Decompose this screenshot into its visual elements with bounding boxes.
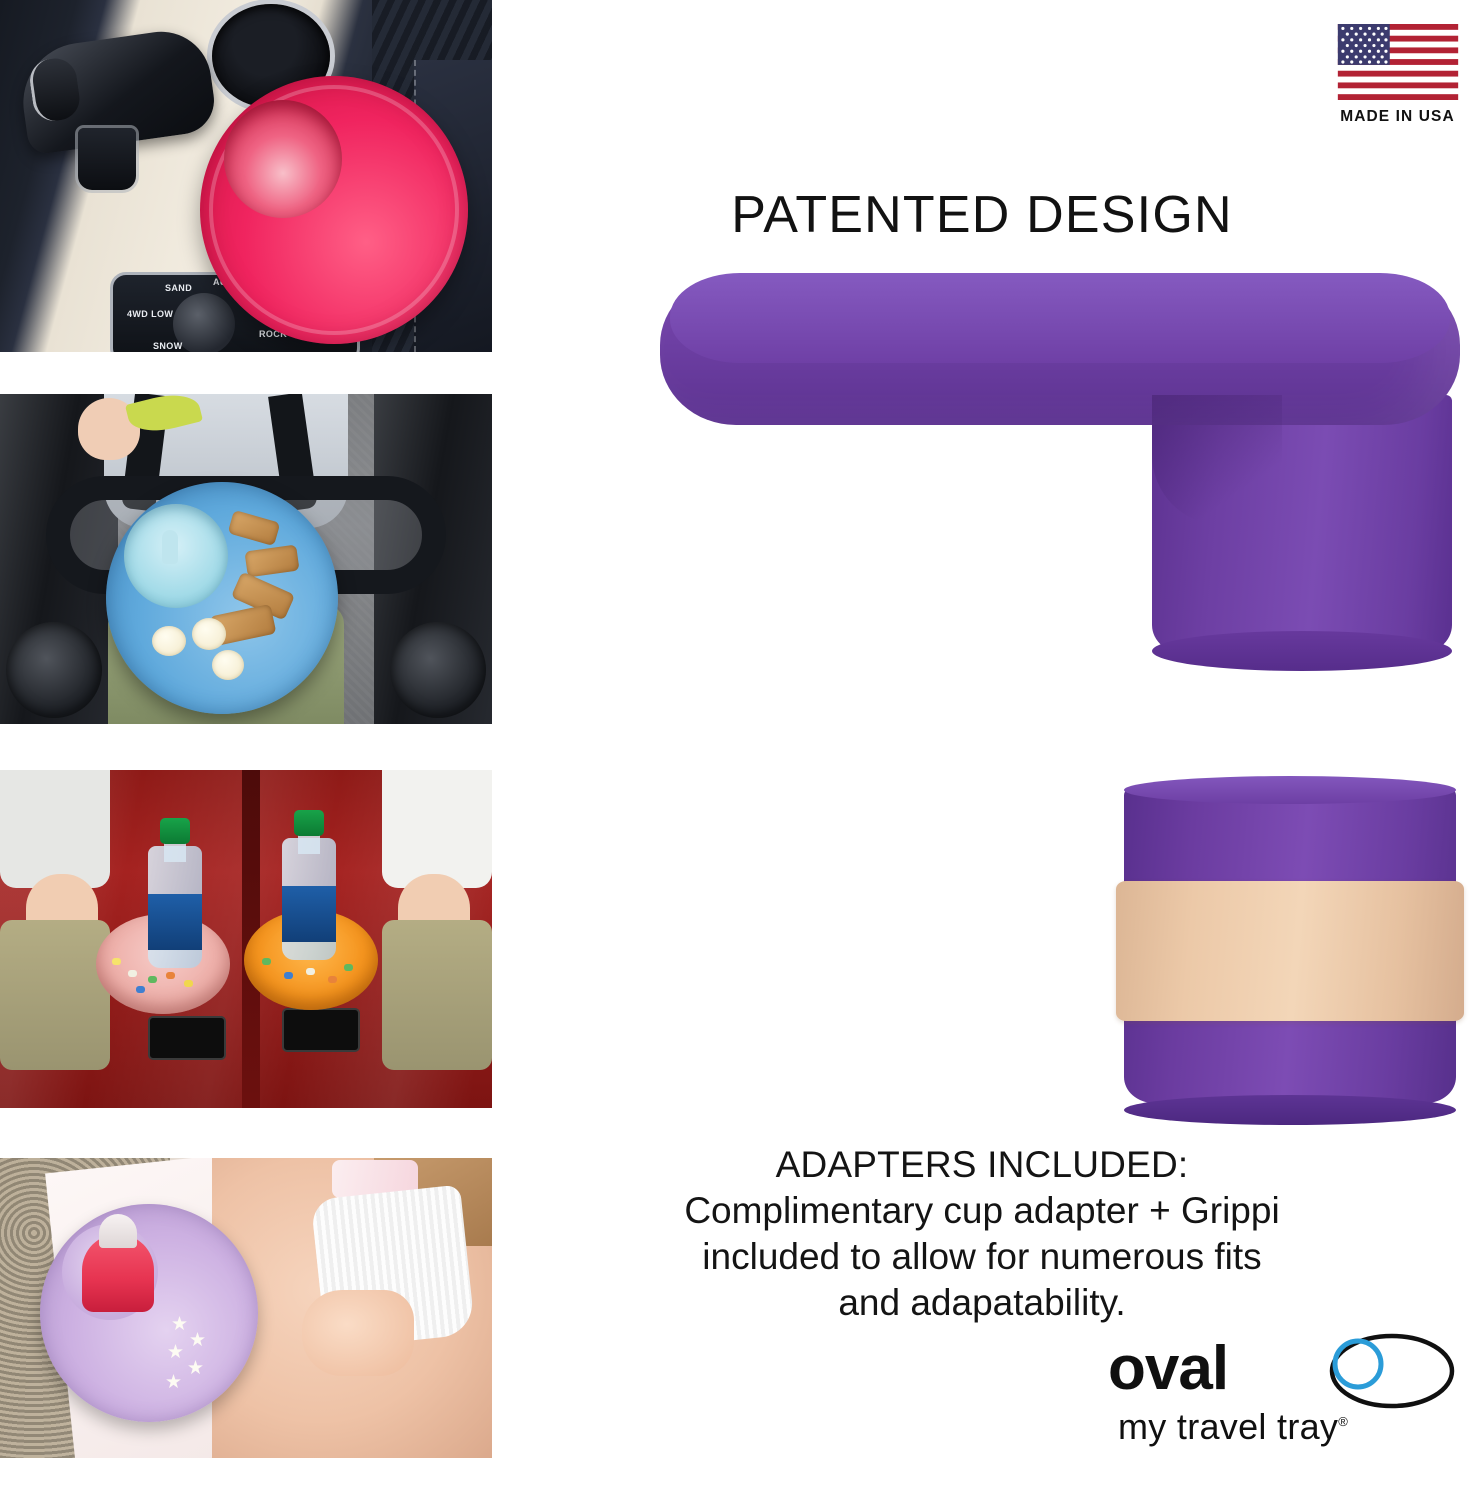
bottle-label [148,894,202,950]
theater-scene [0,770,492,1108]
snack-piece [344,964,353,971]
snack-piece [136,986,145,993]
car-interior-scene: 4WD LOW SAND AUTO SNOW ROCK MUD [0,0,492,352]
outdoor-scene [0,1158,492,1458]
star-snack [168,1344,183,1359]
cupholder-base-right [282,1008,360,1052]
child-right [382,770,492,1108]
child-shorts [382,920,492,1070]
brand-wordmark: oval [1108,1338,1228,1400]
banana-slice [152,626,186,656]
bottle-label [282,886,336,942]
photo-strollers-image [0,394,492,724]
snack-piece [128,970,137,977]
brand-logo: oval my travel tray® [1090,1332,1462,1472]
baby-bottle [82,1234,154,1312]
page-title: PATENTED DESIGN [492,185,1472,245]
grippi-band [1116,881,1464,1021]
snack-piece [262,958,271,965]
star-snack [190,1332,205,1347]
bottle-cap [160,818,190,844]
tray-surface [670,273,1450,363]
adapters-heading: ADAPTERS INCLUDED: [512,1142,1452,1188]
brand-tagline: my travel tray® [1118,1406,1458,1448]
brand-tagline-text: my travel tray [1118,1406,1338,1447]
photo-cars-image: 4WD LOW SAND AUTO SNOW ROCK MUD [0,0,492,352]
car-label-snow: SNOW [153,341,183,351]
trademark-symbol: ® [1338,1414,1348,1429]
cupholder-base-left [148,1016,226,1060]
use-case-photo-movie-theaters: MOVIE THEATERS [0,770,492,1108]
star-snack [172,1316,187,1331]
product-hero-image [492,255,1472,685]
stroller-wheel-right [390,622,486,718]
car-label-sand: SAND [165,283,192,293]
baby-hands [302,1290,414,1376]
made-in-usa-badge: MADE IN USA [1330,24,1465,126]
car-label-4wd-low: 4WD LOW [127,309,173,319]
adapters-included-text: ADAPTERS INCLUDED: Complimentary cup ada… [512,1142,1452,1326]
adapter-base [1124,1095,1456,1125]
car-shifter-base [78,128,136,190]
child-shirt [382,770,492,888]
bottle-cap [294,810,324,836]
pink-tray-cup-well [224,100,342,218]
usa-flag-icon [1337,24,1459,100]
sippy-cup [124,504,228,608]
bottle-body [282,838,336,960]
snack-piece [148,976,157,983]
adapters-line-1: Complimentary cup adapter + Grippi [512,1188,1452,1234]
snack-piece [306,968,315,975]
stroller-wheel-left [6,622,102,718]
cup-adapter-image [1112,785,1472,1115]
photo-movie-image [0,770,492,1108]
snack-piece [184,980,193,987]
snack-piece [112,958,121,965]
lavender-travel-tray [40,1204,258,1422]
banana-slice [192,618,226,650]
star-snack [188,1360,203,1375]
use-case-photo-outdoor-chairs: OUTDOOR CHAIRS [0,1158,492,1458]
oval-logo-icon [1326,1332,1456,1410]
use-case-photo-column: 4WD LOW SAND AUTO SNOW ROCK MUD CARS [0,0,492,1500]
water-bottle-left [148,818,202,968]
bottle-body [148,846,202,968]
water-bottle-right [282,810,336,960]
made-in-usa-label: MADE IN USA [1330,108,1465,126]
use-case-photo-cars: 4WD LOW SAND AUTO SNOW ROCK MUD CARS [0,0,492,352]
star-snack [166,1374,181,1389]
child-left [0,770,110,1108]
snack-piece [328,976,337,983]
granola-piece [228,510,281,546]
blue-travel-tray [106,482,338,714]
adapters-line-3: and adapatability. [512,1280,1452,1326]
brand-name: oval [1108,1338,1228,1400]
pink-travel-tray [200,76,468,344]
granola-piece [244,545,299,578]
product-detail-panel: MADE IN USA PATENTED DESIGN ADAPTERS INC… [492,0,1472,1500]
adapter-top-rim [1124,776,1456,804]
snack-piece [284,972,293,979]
snack-piece [166,972,175,979]
use-case-photo-strollers: STROLLERS [0,394,492,724]
banana-slice [212,650,244,680]
photo-outdoor-image [0,1158,492,1458]
child-shirt [0,770,110,888]
adapters-line-2: included to allow for numerous fits [512,1234,1452,1280]
child-shorts [0,920,110,1070]
stroller-scene [0,394,492,724]
